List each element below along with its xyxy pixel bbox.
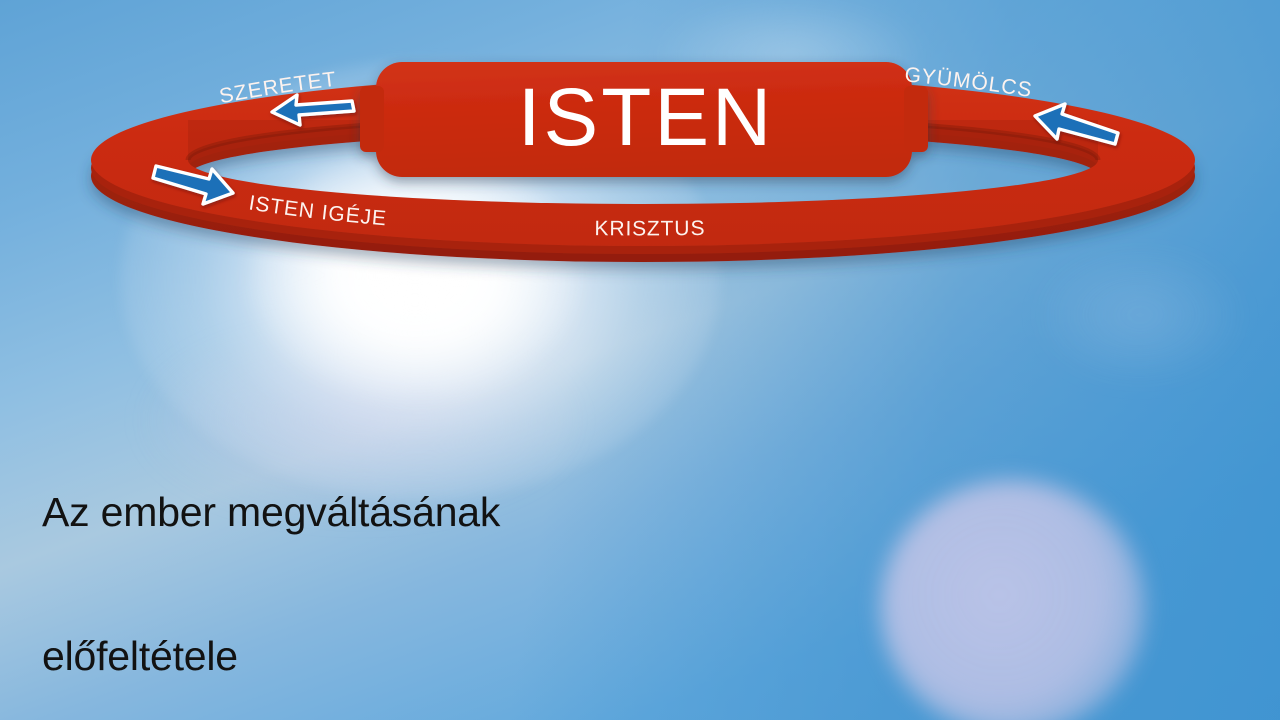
slide-caption: Az ember megváltásának előfeltétele – a … — [42, 392, 682, 720]
ring-label-krisztus: KRISZTUS — [594, 217, 705, 241]
lens-flare-pink-circle — [880, 480, 1145, 720]
cycle-diagram[interactable]: SZERETET GYÜMÖLCS ISTEN IGÉJE KRISZTUS I… — [0, 0, 1280, 300]
slide-canvas: SZERETET GYÜMÖLCS ISTEN IGÉJE KRISZTUS I… — [0, 0, 1280, 720]
caption-line-2: előfeltétele — [42, 632, 682, 680]
diagram-center-title: ISTEN — [518, 72, 774, 163]
caption-line-1: Az ember megváltásának — [42, 488, 682, 536]
